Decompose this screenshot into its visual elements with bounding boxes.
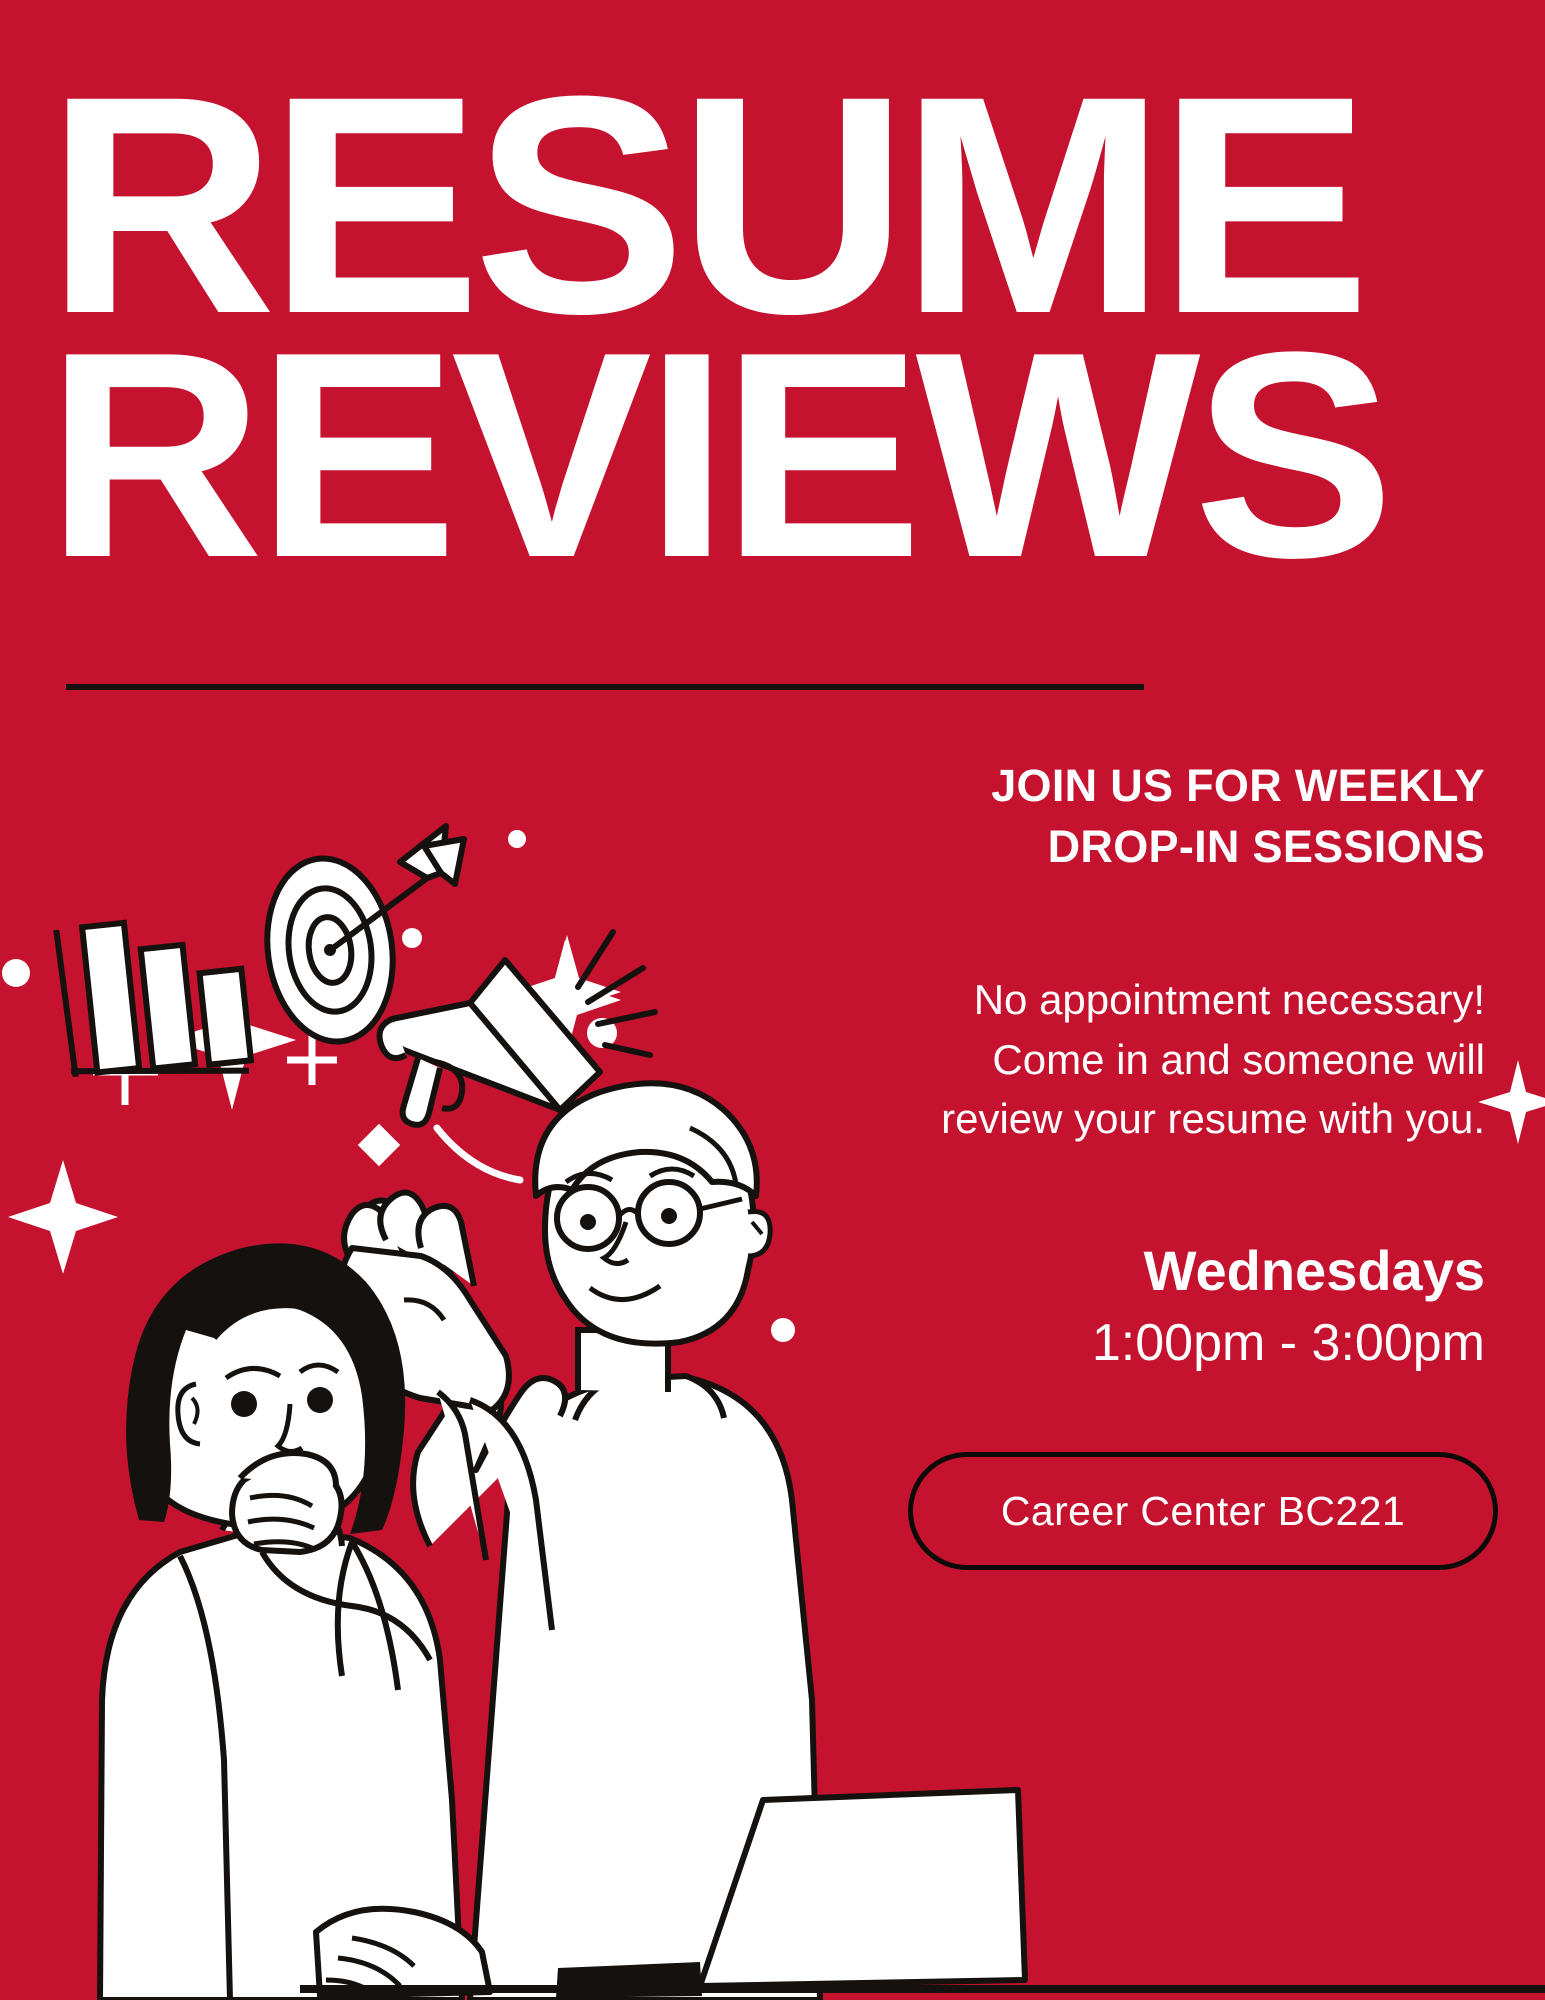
body-copy: No appointment necessary! Come in and so… <box>725 970 1485 1149</box>
dot-icon <box>508 830 526 848</box>
plus-icon <box>273 1425 343 1495</box>
subheading-line-2: DROP-IN SESSIONS <box>785 816 1485 877</box>
laptop-icon <box>300 1790 1545 1998</box>
subheading: JOIN US FOR WEEKLY DROP-IN SESSIONS <box>785 755 1485 877</box>
body-copy-line-2: Come in and someone will <box>725 1030 1485 1090</box>
sparkle-icon <box>509 940 621 1060</box>
page-title: RESUME REVIEWS <box>46 62 1206 591</box>
person-thinking <box>100 1243 490 2000</box>
plus-icon <box>625 1412 685 1472</box>
megaphone-icon <box>380 932 655 1180</box>
dot-icon <box>587 1018 617 1048</box>
diamond-icon <box>358 1124 400 1166</box>
dot-icon <box>402 928 422 948</box>
location-pill[interactable]: Career Center BC221 <box>908 1452 1498 1570</box>
body-copy-line-3: review your resume with you. <box>725 1089 1485 1149</box>
bar-chart-icon <box>56 911 252 1089</box>
dot-icon <box>2 959 30 987</box>
sparkle-icon <box>8 1160 118 1274</box>
body-copy-line-1: No appointment necessary! <box>725 970 1485 1030</box>
target-with-arrow-icon <box>256 850 404 1049</box>
schedule-day: Wednesdays <box>725 1240 1485 1302</box>
headline-line-2: REVIEWS <box>46 321 1241 591</box>
poster-canvas: RESUME REVIEWS JOIN US FOR WEEKLY DROP-I… <box>0 0 1545 2000</box>
sparkle-icon <box>168 972 296 1110</box>
person-with-glasses <box>340 1083 820 2000</box>
plus-icon <box>287 1035 337 1085</box>
arrow-icon <box>333 826 464 948</box>
headline-divider <box>66 684 1144 690</box>
subheading-line-1: JOIN US FOR WEEKLY <box>785 755 1485 816</box>
schedule-time: 1:00pm - 3:00pm <box>725 1315 1485 1372</box>
sparkle-icon <box>1478 1060 1545 1144</box>
plus-icon <box>93 1040 158 1105</box>
dot-icon <box>186 1404 214 1432</box>
location-label: Career Center BC221 <box>1001 1488 1405 1535</box>
sparkle-icon <box>513 935 621 1050</box>
